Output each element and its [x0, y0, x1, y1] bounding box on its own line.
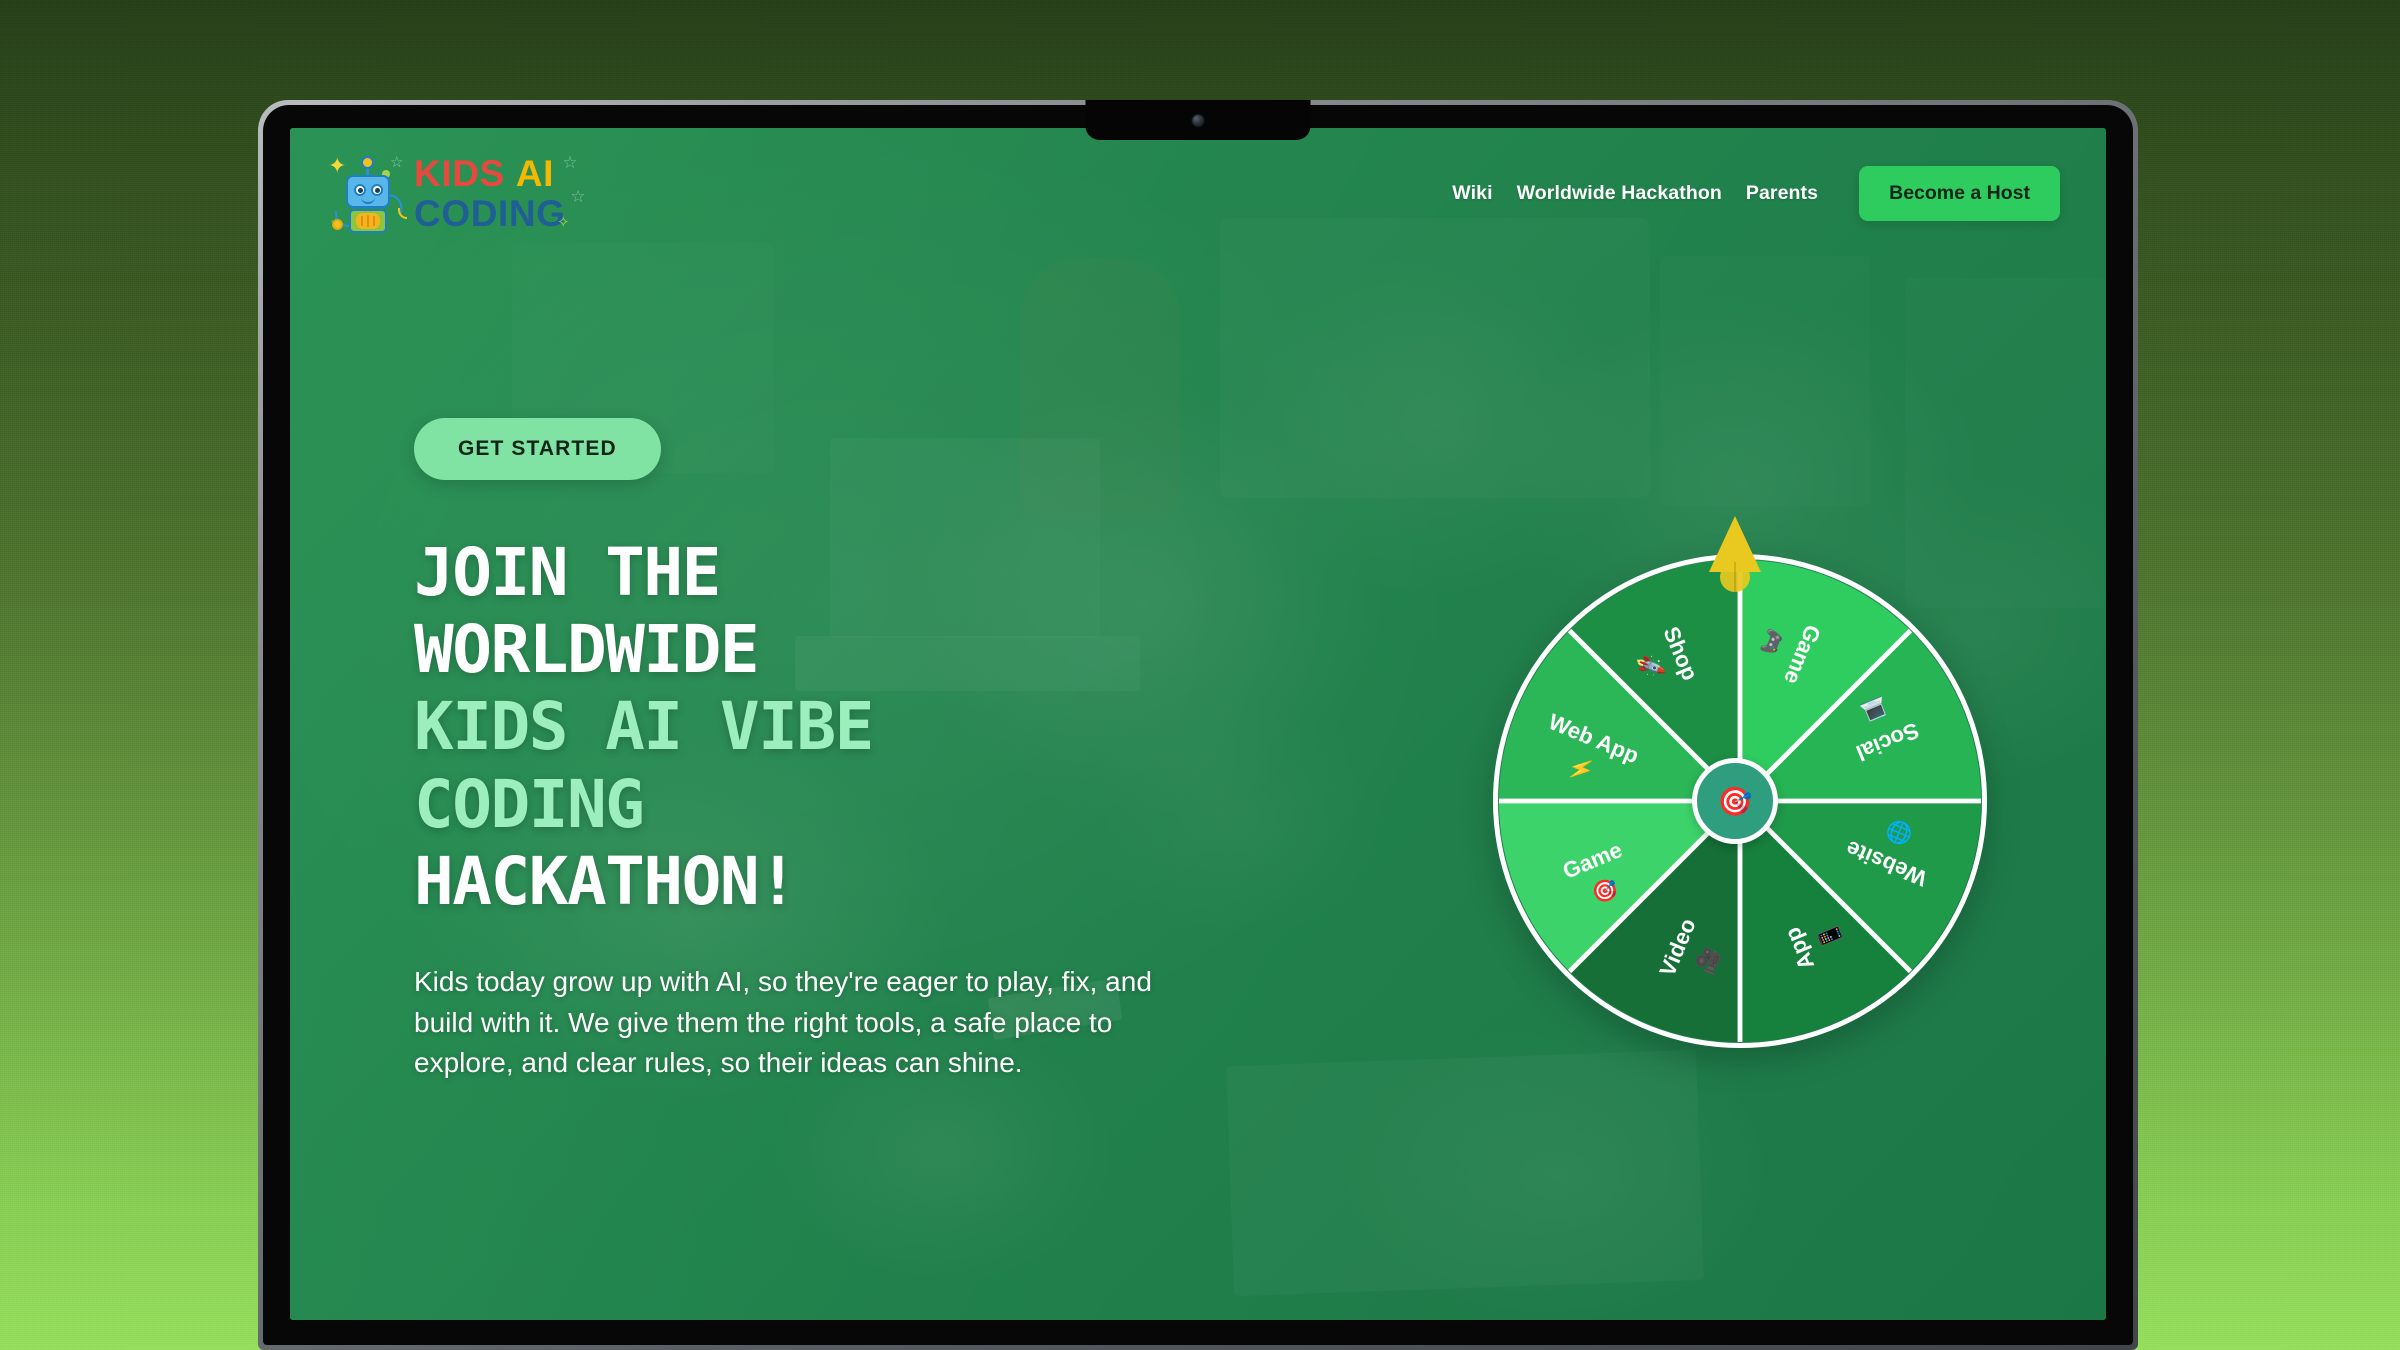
logo-word-kids: KIDS [414, 153, 505, 194]
logo-word-coding: CODING [414, 195, 566, 232]
hero-description: Kids today grow up with AI, so they're e… [414, 962, 1214, 1084]
robot-hand-right [398, 208, 407, 219]
wheel-pointer [1702, 516, 1768, 594]
wheel-spin-hub-button[interactable]: 🎯 [1692, 758, 1778, 844]
headline-line-4: CODING [414, 766, 1254, 843]
sparkle-icon: ✦ [328, 155, 346, 177]
headline-line-2: WORLDWIDE [414, 611, 1254, 688]
website-content: ✦ ☆ ☆ [290, 128, 2106, 1320]
site-logo[interactable]: ✦ ☆ ☆ [332, 153, 566, 233]
star-outline-icon: ☆ [390, 155, 403, 170]
logo-star-icon-1: ☆ [562, 153, 577, 173]
robot-mascot-icon: ✦ ☆ ☆ [332, 153, 404, 233]
robot-pupil-right [375, 188, 380, 193]
robot-brain-line-1 [361, 216, 363, 226]
become-a-host-button[interactable]: Become a Host [1859, 166, 2060, 221]
nav-link-parents[interactable]: Parents [1746, 182, 1818, 205]
robot-hand-left [332, 219, 343, 230]
logo-word-ai: AI [516, 153, 554, 194]
headline-line-5: HACKATHON! [414, 843, 1254, 920]
headline-line-3: KIDS AI VIBE [414, 688, 1254, 765]
get-started-button[interactable]: GET STARTED [414, 418, 661, 480]
site-navbar: ✦ ☆ ☆ [290, 128, 2106, 258]
project-type-spin-wheel[interactable]: Game🎮Social💻Website🌐App📱Video🎥Game🎯Web A… [1470, 508, 2000, 1038]
robot-brain-line-3 [373, 216, 375, 226]
robot-antenna-ball [361, 156, 374, 169]
nav-link-wiki[interactable]: Wiki [1452, 182, 1492, 205]
navbar-links: Wiki Worldwide Hackathon Parents Become … [1452, 166, 2060, 221]
headline-line-1: JOIN THE [414, 534, 1254, 611]
webcam-dot-icon [1193, 115, 1204, 126]
logo-sparkle-icon: ✧ [557, 213, 570, 231]
laptop-screen: ✦ ☆ ☆ [290, 128, 2106, 1320]
nav-link-worldwide-hackathon[interactable]: Worldwide Hackathon [1517, 182, 1722, 205]
robot-pupil-left [358, 188, 363, 193]
logo-wordmark: KIDSAI CODING [414, 155, 566, 232]
hero-text-block: GET STARTED JOIN THE WORLDWIDE KIDS AI V… [414, 418, 1254, 1084]
logo-line-one: KIDSAI [414, 155, 566, 192]
logo-star-icon-2: ☆ [570, 187, 585, 207]
laptop-device-mockup: ✦ ☆ ☆ [258, 100, 2138, 1350]
robot-brain-line-2 [367, 215, 369, 227]
wheel-pointer-knob [1720, 562, 1750, 592]
page-title: JOIN THE WORLDWIDE KIDS AI VIBE CODING H… [414, 534, 1254, 920]
page-backdrop: ✦ ☆ ☆ [0, 0, 2400, 1350]
